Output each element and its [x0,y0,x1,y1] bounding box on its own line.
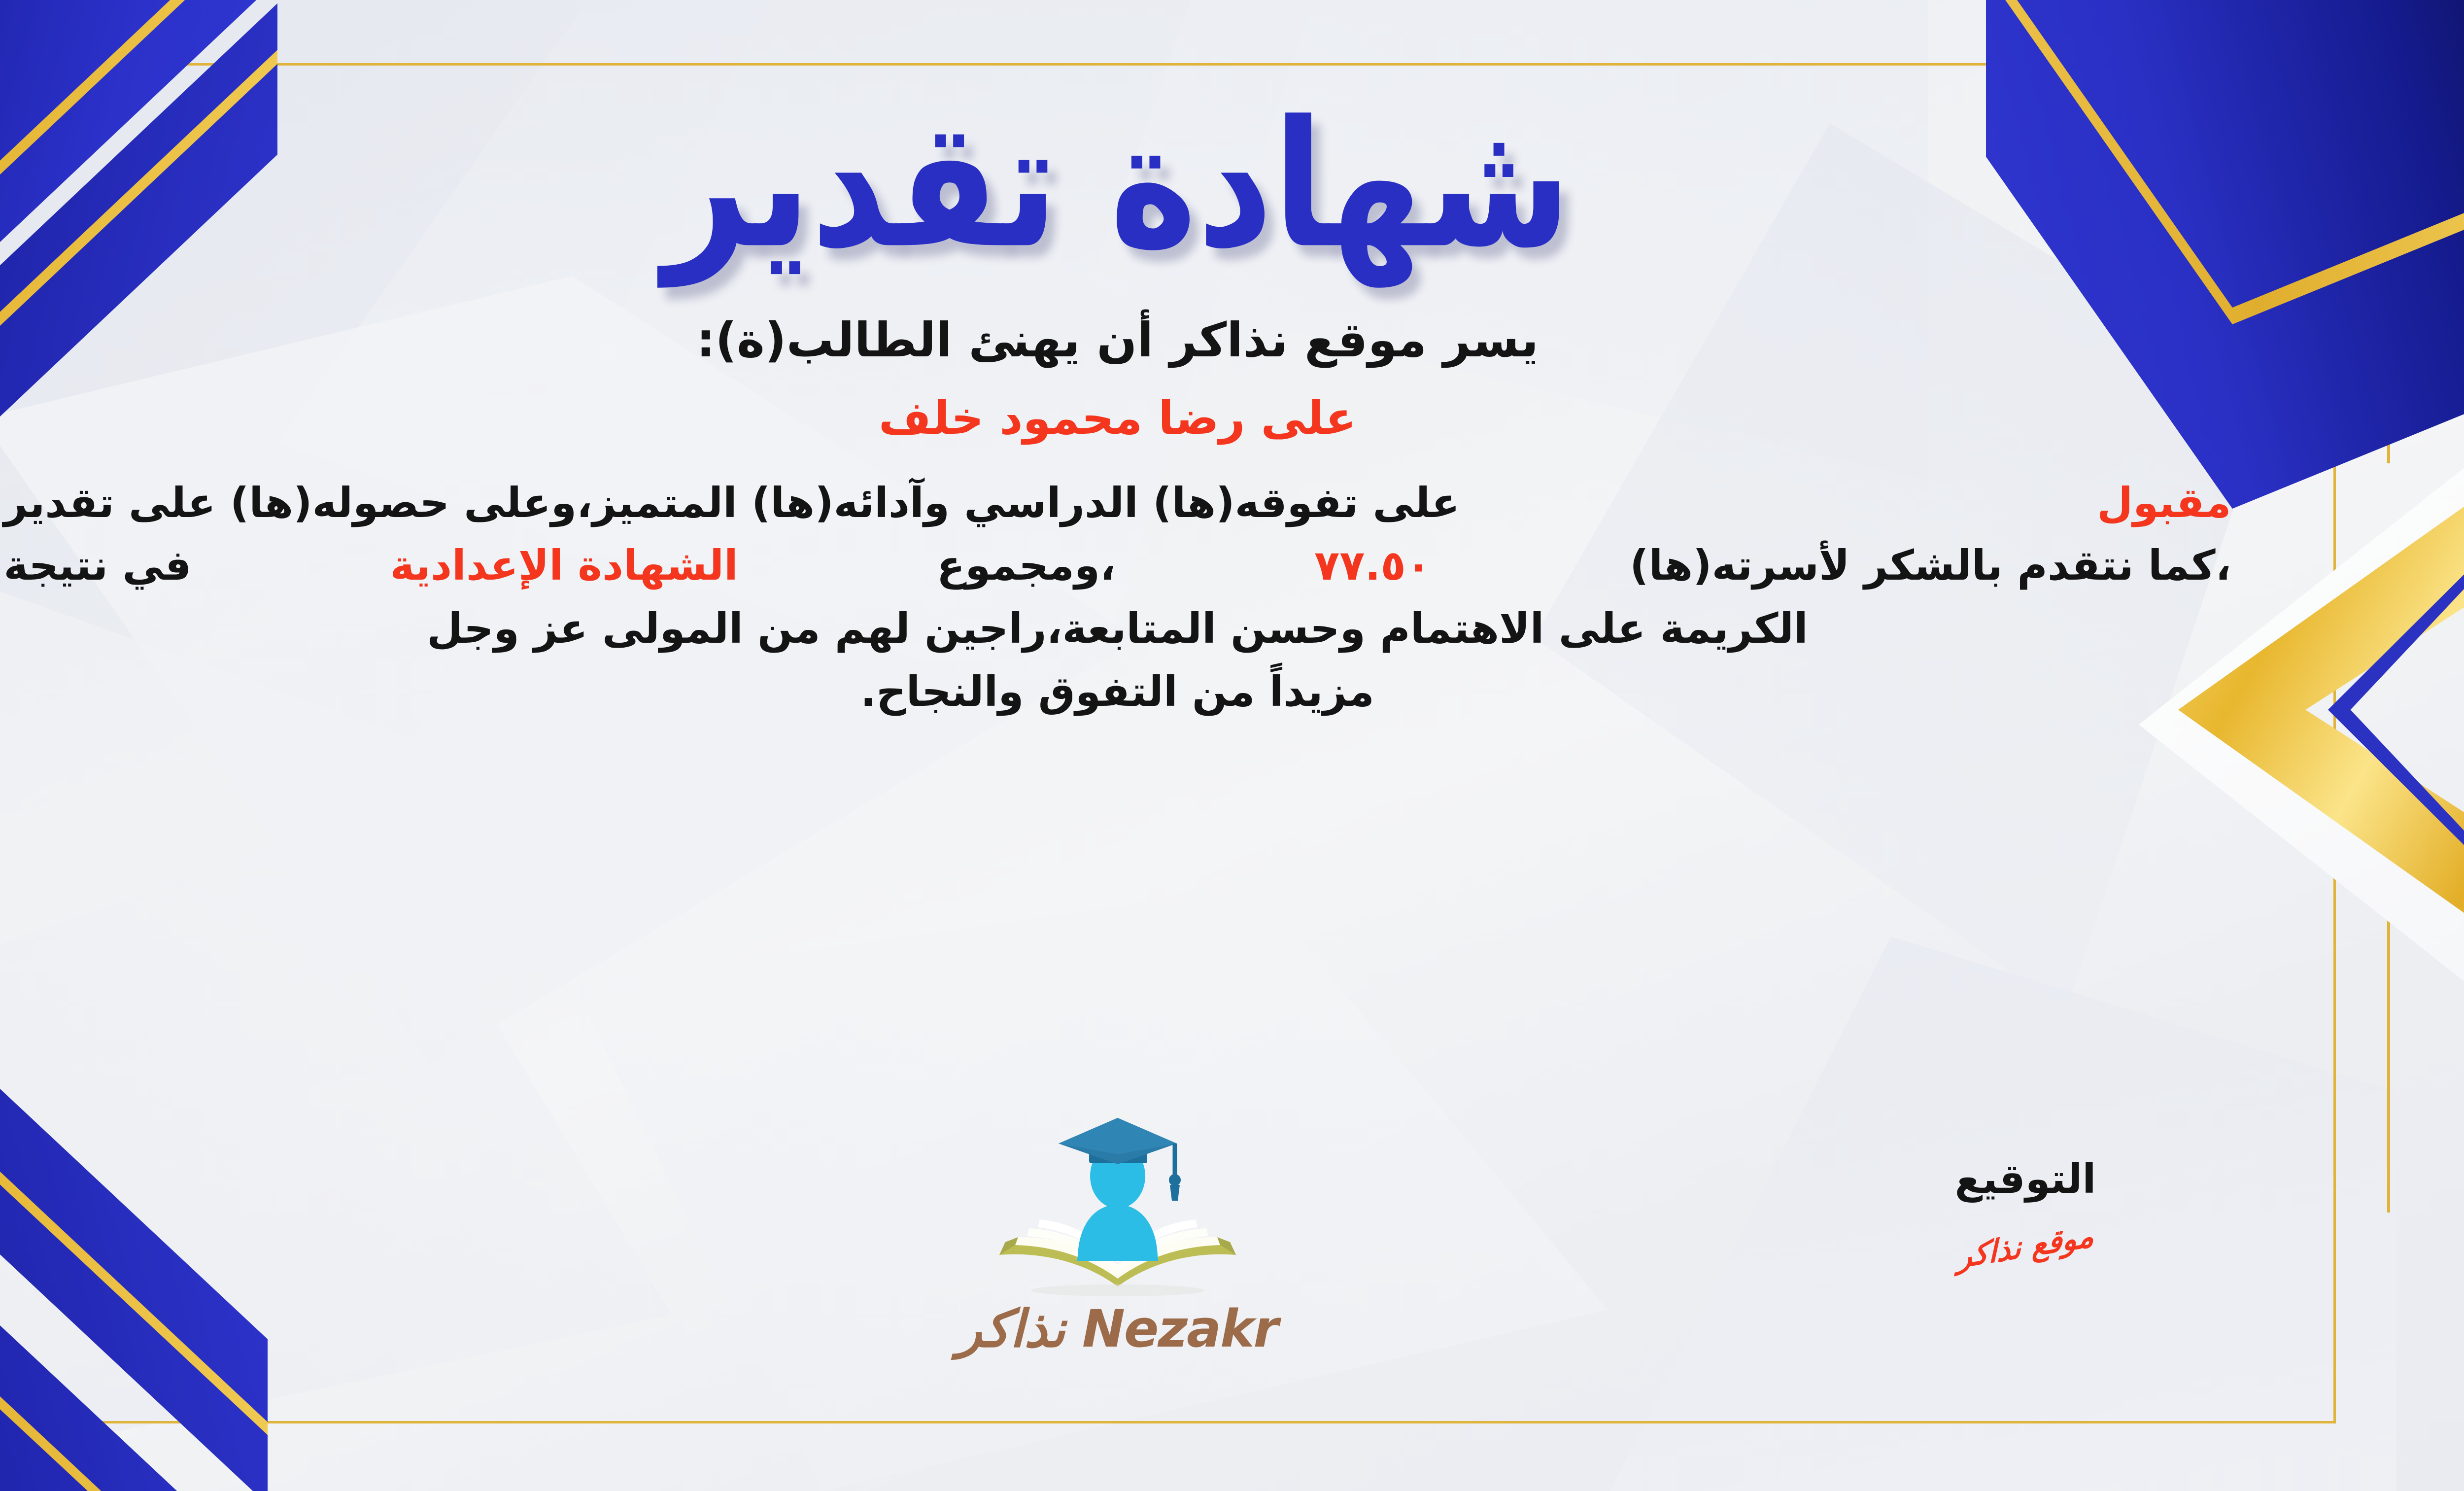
body-line-1-text: على تفوقه(ها) الدراسي وآدائه(ها) المتميز… [4,472,1460,535]
body-line-2-suffix: ،كما نتقدم بالشكر لأسرته(ها) [1630,534,2231,597]
certificate-footer: التوقيع موقع نذاكر [0,1108,2336,1423]
body-line-2-prefix: في نتيجة [4,534,192,597]
graduate-book-logo-icon [980,1113,1256,1305]
body-line-4: مزيداً من التفوق والنجاح. [4,660,2231,724]
signature-mark: موقع نذاكر [1957,1217,2094,1276]
certificate-page: شهادة تقدير يسر موقع نذاكر أن يهنئ الطال… [0,0,2464,1491]
certificate-content: شهادة تقدير يسر موقع نذاكر أن يهنئ الطال… [0,63,2336,1423]
body-line-3: الكريمة على الاهتمام وحسن المتابعة،راجين… [4,597,2231,660]
body-line-2: ،كما نتقدم بالشكر لأسرته(ها) ٧٧.٥٠ ،ومجم… [4,534,2231,597]
grade-value: مقبول [2097,472,2231,535]
body-line-2-mid: ،ومجموع [937,534,1116,597]
certificate-title: شهادة تقدير [0,63,2336,277]
certificate-body: مقبول على تفوقه(ها) الدراسي وآدائه(ها) ا… [4,446,2231,724]
brand-wordmark: Nezakr نذاكر [896,1303,1339,1354]
signature-label: التوقيع [1838,1157,2213,1202]
student-name: على رضا محمود خلف [0,369,2336,446]
exam-name-value: الشهادة الإعدادية [390,534,738,597]
body-line-1: مقبول على تفوقه(ها) الدراسي وآدائه(ها) ا… [4,472,2231,535]
brand-logo: Nezakr نذاكر [896,1113,1339,1354]
total-score-value: ٧٧.٥٠ [1314,534,1431,597]
signature-block: التوقيع موقع نذاكر [1838,1157,2213,1264]
